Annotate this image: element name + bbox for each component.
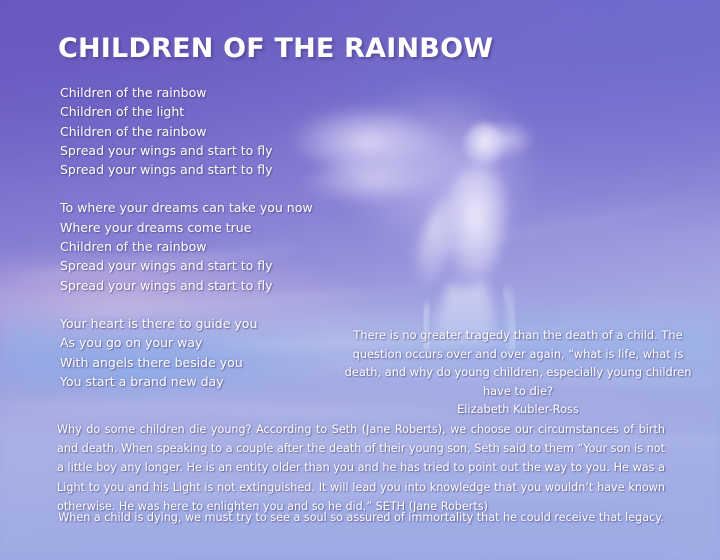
quote-attribution: Elizabeth Kubler-Ross: [336, 400, 700, 419]
poem-line: Spread your wings and start to fly: [60, 276, 360, 295]
poem-stanza: Your heart is there to guide you As you …: [60, 314, 360, 391]
closing-line: When a child is dying, we must try to se…: [57, 509, 665, 527]
poem-stanza: Children of the rainbow Children of the …: [60, 83, 360, 179]
quote-text: There is no greater tragedy than the dea…: [345, 328, 692, 398]
poem-line: Children of the rainbow: [60, 83, 360, 102]
poem-line: With angels there beside you: [60, 353, 360, 372]
poem-line: Children of the rainbow: [60, 237, 360, 256]
poem-stanza: To where your dreams can take you now Wh…: [60, 198, 360, 294]
poem-line: Spread your wings and start to fly: [60, 160, 360, 179]
poem-line: As you go on your way: [60, 333, 360, 352]
poem-block: Children of the rainbow Children of the …: [60, 83, 360, 391]
poem-line: Spread your wings and start to fly: [60, 141, 360, 160]
poem-line: Children of the rainbow: [60, 122, 360, 141]
poem-line: You start a brand new day: [60, 372, 360, 391]
poem-line: Children of the light: [60, 102, 360, 121]
poem-line: To where your dreams can take you now: [60, 198, 360, 217]
poem-line: Where your dreams come true: [60, 218, 360, 237]
page-title: CHILDREN OF THE RAINBOW: [58, 33, 493, 64]
poem-line: Spread your wings and start to fly: [60, 256, 360, 275]
seth-paragraph: Why do some children die young? Accordin…: [57, 420, 665, 516]
slide-canvas: CHILDREN OF THE RAINBOW Children of the …: [0, 0, 720, 560]
kubler-ross-quote-block: There is no greater tragedy than the dea…: [336, 326, 700, 419]
poem-line: Your heart is there to guide you: [60, 314, 360, 333]
